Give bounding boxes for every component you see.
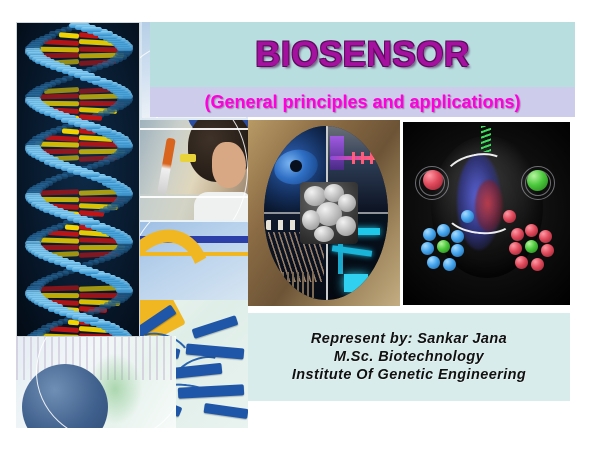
subtitle-banner: (General principles and applications)	[150, 87, 575, 117]
presentation-slide: BIOSENSOR (General principles and applic…	[0, 0, 600, 450]
attribution-institute: Institute Of Genetic Engineering	[292, 367, 526, 383]
page-subtitle: (General principles and applications)	[204, 92, 520, 113]
title-banner: BIOSENSOR	[150, 22, 575, 87]
attribution-presenter: Represent by: Sankar Jana	[311, 331, 507, 347]
nanoparticle-molecular-sensing-diagram	[403, 122, 570, 305]
biosensor-technology-collage-oval	[248, 120, 400, 306]
page-title: BIOSENSOR	[255, 35, 470, 75]
attribution-degree: M.Sc. Biotechnology	[334, 349, 484, 365]
excitation-squiggle-icon	[481, 126, 491, 152]
attribution-box: Represent by: Sankar Jana M.Sc. Biotechn…	[248, 313, 570, 401]
sem-micrograph-inset	[300, 182, 358, 244]
scientist-pipetting-photo	[140, 120, 248, 220]
dna-double-helix-illustration	[16, 22, 140, 337]
abstract-pastel-sphere-graphic	[16, 336, 176, 428]
